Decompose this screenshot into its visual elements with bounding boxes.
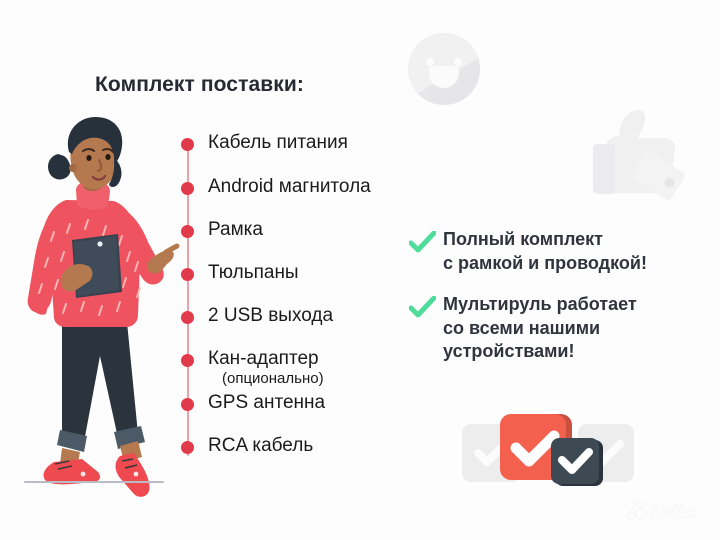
watermark-text: Avito [649, 502, 696, 523]
bullet-dot-icon [181, 354, 194, 367]
avito-watermark: Avito [624, 498, 706, 524]
benefit-line: Мультируль работает [443, 293, 709, 317]
list-item-label: Android магнитола [208, 174, 371, 200]
smiley-eye-left [426, 58, 434, 66]
benefit-text: Полный комплект с рамкой и проводкой! [409, 228, 709, 275]
benefit-item: Полный комплект с рамкой и проводкой! [409, 228, 709, 275]
benefit-line: Полный комплект [443, 228, 709, 252]
bullet-dot-icon [181, 268, 194, 281]
smiley-face-icon [408, 33, 480, 105]
bullet-dot-icon [181, 441, 194, 454]
bullet-dot-icon [181, 182, 194, 195]
benefits-list: Полный комплект с рамкой и проводкой! Му… [409, 228, 709, 377]
smiley-eye-right [454, 58, 462, 66]
benefit-line: устройствами! [443, 340, 709, 364]
ground-line [24, 481, 164, 483]
list-item-label: Рамка [208, 217, 263, 243]
bullet-dot-icon [181, 225, 194, 238]
benefit-line: со всеми нашими [443, 317, 709, 341]
list-item-label: Тюльпаны [208, 260, 299, 286]
page-title: Комплект поставки: [95, 73, 304, 97]
list-item-label: 2 USB выхода [208, 303, 333, 329]
promo-image-canvas: Комплект поставки: Кабель питания Androi… [0, 0, 720, 540]
benefit-line: с рамкой и проводкой! [443, 252, 709, 276]
woman-with-tablet-illustration [14, 112, 180, 500]
check-icon [409, 296, 436, 320]
list-item-label: RCA кабель [208, 433, 313, 459]
list-item-sublabel: (опционально) [222, 369, 324, 389]
list-item-label: GPS антенна [208, 390, 325, 416]
bullet-dot-icon [181, 311, 194, 324]
checkbox-cards-icon [462, 412, 634, 486]
bullet-dot-icon [181, 398, 194, 411]
check-icon [409, 231, 436, 255]
bullet-dot-icon [181, 138, 194, 151]
benefit-item: Мультируль работает со всеми нашими устр… [409, 293, 709, 364]
benefit-text: Мультируль работает со всеми нашими устр… [409, 293, 709, 364]
list-item-label: Кабель питания [208, 130, 348, 156]
thumbs-up-icon [578, 106, 686, 210]
